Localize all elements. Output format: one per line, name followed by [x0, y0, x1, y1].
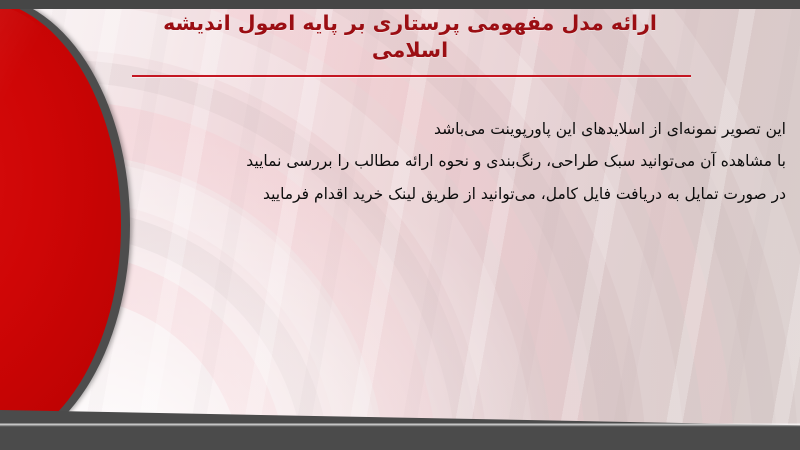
- body-line-2: با مشاهده آن می‌توانید سبک طراحی، رنگ‌بن…: [146, 150, 786, 173]
- slide-title-line-2: اسلامی: [120, 37, 700, 64]
- body-line-1: این تصویر نمونه‌ای از اسلایدهای این پاور…: [146, 118, 786, 141]
- slide-title-line-1: ارائه مدل مفهومی پرستاری بر پایه اصول ان…: [120, 10, 700, 37]
- title-underline-rule: [132, 75, 691, 77]
- slide-title: ارائه مدل مفهومی پرستاری بر پایه اصول ان…: [120, 10, 700, 65]
- slide-top-bar: [0, 0, 800, 9]
- slide-background-panel: [0, 9, 800, 432]
- body-line-3: در صورت تمایل به دریافت فایل کامل، می‌تو…: [146, 183, 786, 206]
- presentation-slide: ارائه مدل مفهومی پرستاری بر پایه اصول ان…: [0, 0, 800, 450]
- slide-body: این تصویر نمونه‌ای از اسلایدهای این پاور…: [146, 118, 786, 206]
